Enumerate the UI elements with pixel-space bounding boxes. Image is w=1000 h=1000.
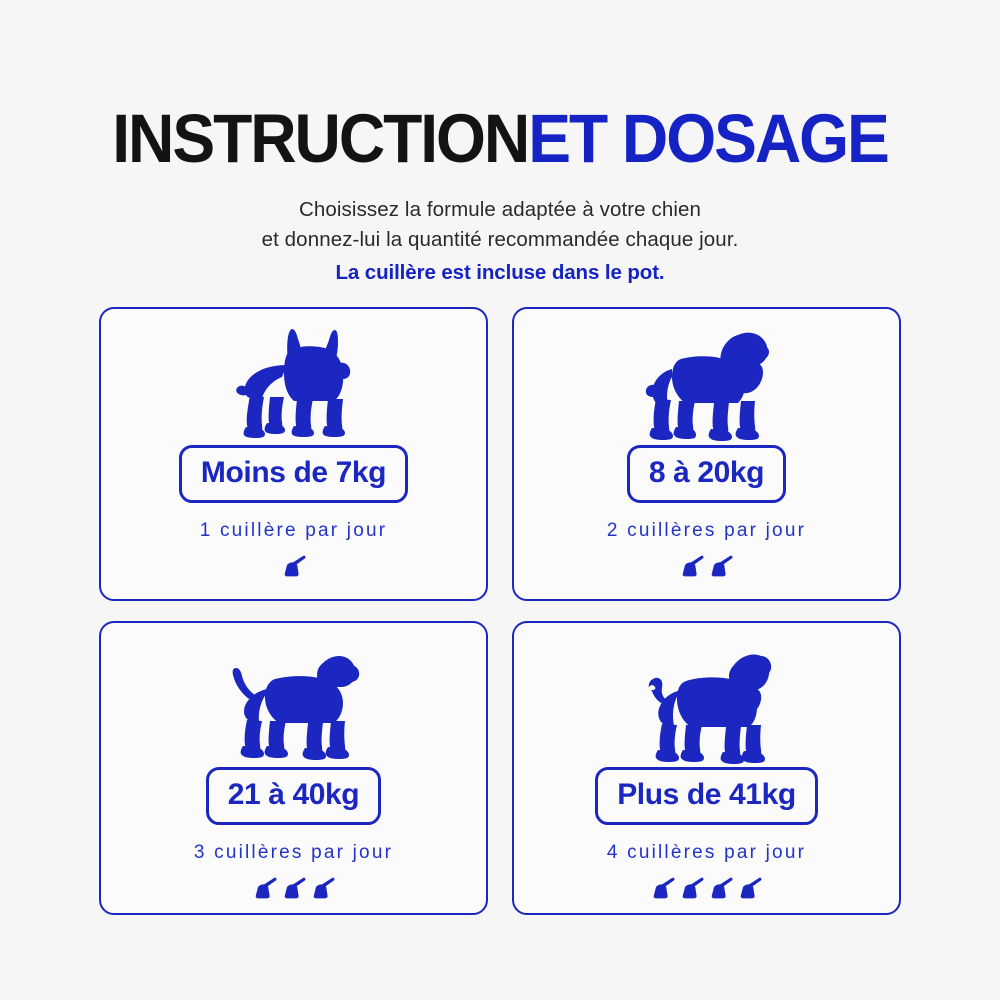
page-title-part-dark: INSTRUCTION: [112, 100, 528, 177]
page-title: INSTRUCTIONET DOSAGE: [35, 104, 965, 174]
spoon-icon-group: [650, 877, 763, 901]
spoon-icon: [737, 877, 763, 901]
spoon-icon-group: [281, 555, 307, 579]
subtitle: Choisissez la formule adaptée à votre ch…: [0, 195, 1000, 288]
page-title-part-blue: ET DOSAGE: [528, 100, 888, 177]
spoon-icon: [281, 877, 307, 901]
spoon-icon: [679, 877, 705, 901]
weight-badge: 21 à 40kg: [206, 767, 382, 825]
subtitle-line-2: et donnez-lui la quantité recommandée ch…: [0, 225, 1000, 255]
mastiff-icon: [642, 637, 772, 765]
spaniel-icon: [642, 317, 772, 445]
spoon-icon-group: [252, 877, 336, 901]
dose-label: 3 cuillères par jour: [194, 842, 393, 864]
header: INSTRUCTIONET DOSAGE Choisissez la formu…: [0, 104, 1000, 288]
spoon-icon: [252, 877, 278, 901]
dosage-card[interactable]: Moins de 7kg 1 cuillère par jour: [99, 307, 488, 601]
dosage-card[interactable]: 8 à 20kg 2 cuillères par jour: [512, 307, 901, 601]
dosage-card[interactable]: 21 à 40kg 3 cuillères par jour: [99, 621, 488, 915]
subtitle-emphasis: La cuillère est incluse dans le pot.: [0, 258, 1000, 288]
weight-badge: Moins de 7kg: [179, 445, 408, 503]
spoon-icon: [679, 555, 705, 579]
infographic-page: INSTRUCTIONET DOSAGE Choisissez la formu…: [0, 0, 1000, 1000]
spoon-icon: [310, 877, 336, 901]
weight-badge: 8 à 20kg: [627, 445, 786, 503]
weight-badge: Plus de 41kg: [595, 767, 818, 825]
spoon-icon-group: [679, 555, 734, 579]
spoon-icon: [650, 877, 676, 901]
dose-label: 1 cuillère par jour: [200, 520, 388, 542]
spoon-icon: [708, 555, 734, 579]
dosage-card-grid: Moins de 7kg 1 cuillère par jour: [99, 307, 901, 915]
dose-label: 4 cuillères par jour: [607, 842, 806, 864]
french-bulldog-icon: [232, 317, 356, 445]
spoon-icon: [708, 877, 734, 901]
labrador-icon: [227, 637, 361, 765]
subtitle-line-1: Choisissez la formule adaptée à votre ch…: [0, 195, 1000, 225]
dose-label: 2 cuillères par jour: [607, 520, 806, 542]
dosage-card[interactable]: Plus de 41kg 4 cuillères par jour: [512, 621, 901, 915]
spoon-icon: [281, 555, 307, 579]
